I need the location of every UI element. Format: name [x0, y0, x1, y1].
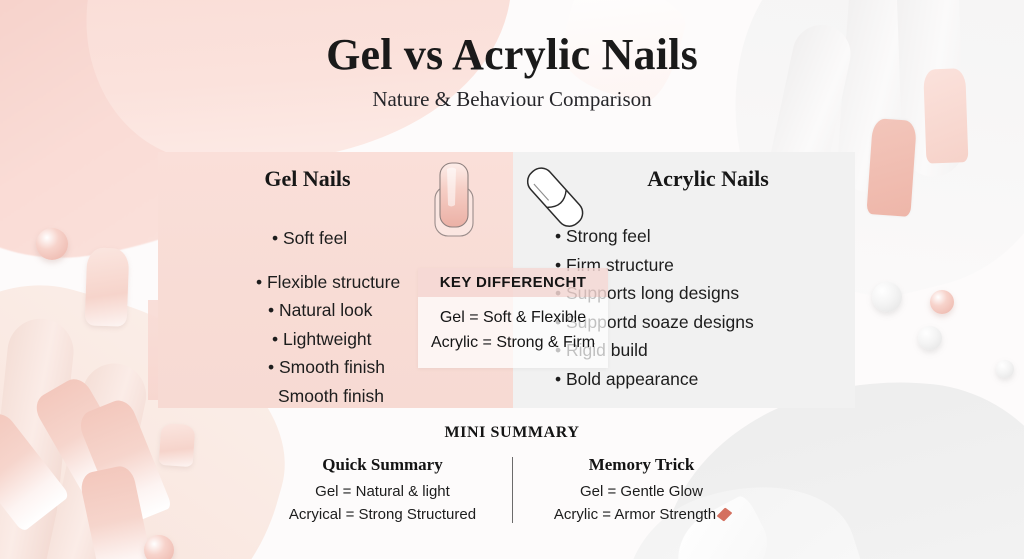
bead-white-1 [872, 282, 902, 312]
bead-pink-1 [36, 228, 68, 260]
memory-trick-column: Memory Trick Gel = Gentle Glow Acrylic =… [513, 455, 771, 526]
memory-trick-heading: Memory Trick [527, 455, 757, 475]
gel-bullet-list: • Soft feel • Flexible structure • Natur… [262, 230, 400, 416]
list-item: • Smooth finish [268, 359, 400, 377]
key-difference-line: Gel = Soft & Flexible [418, 306, 608, 331]
list-item: • Lightweight [272, 331, 400, 349]
gel-nail-icon [428, 160, 480, 240]
list-item: • Soft feel [272, 230, 400, 248]
infographic-canvas: Gel vs Acrylic Nails Nature & Behaviour … [0, 0, 1024, 559]
page-title: Gel vs Acrylic Nails [0, 32, 1024, 78]
quick-summary-column: Quick Summary Gel = Natural & light Acry… [254, 455, 512, 526]
quick-summary-heading: Quick Summary [268, 455, 498, 475]
bead-white-3 [996, 360, 1014, 378]
key-difference-line: Acrylic = Strong & Firm [418, 331, 608, 356]
memory-trick-line-text: Acrylic = Armor Strength [554, 506, 716, 523]
acrylic-nail-tip-icon [524, 160, 586, 240]
mini-summary-section: MINI SUMMARY Quick Summary Gel = Natural… [0, 424, 1024, 526]
memory-trick-line: Gel = Gentle Glow [527, 481, 757, 504]
key-difference-card: KEY DIFFERENCHT Gel = Soft & Flexible Ac… [418, 268, 608, 368]
diamond-icon [717, 508, 733, 522]
mini-summary-title: MINI SUMMARY [0, 424, 1024, 442]
list-item: • Flexible structure [256, 274, 400, 292]
list-item: Smooth finish [278, 388, 400, 406]
quick-summary-line: Gel = Natural & light [268, 481, 498, 504]
list-item: • Bold appearance [555, 371, 754, 389]
list-item: • Natural look [268, 302, 400, 320]
memory-trick-line-with-glyph: Acrylic = Armor Strength [527, 504, 757, 527]
mini-summary-columns: Quick Summary Gel = Natural & light Acry… [0, 455, 1024, 526]
key-difference-heading: KEY DIFFERENCHT [418, 268, 608, 297]
acrylic-column-title: Acrylic Nails [537, 166, 879, 192]
bead-pink-3 [930, 290, 954, 314]
bead-pink-2 [144, 535, 174, 559]
header-block: Gel vs Acrylic Nails Nature & Behaviour … [0, 32, 1024, 112]
summary-divider [512, 457, 513, 523]
bead-white-2 [918, 326, 942, 350]
page-subtitle: Nature & Behaviour Comparison [0, 87, 1024, 112]
quick-summary-line: Acryical = Strong Structured [268, 504, 498, 527]
key-difference-body: Gel = Soft & Flexible Acrylic = Strong &… [418, 297, 608, 356]
nail-tip-loose-1 [85, 247, 130, 326]
